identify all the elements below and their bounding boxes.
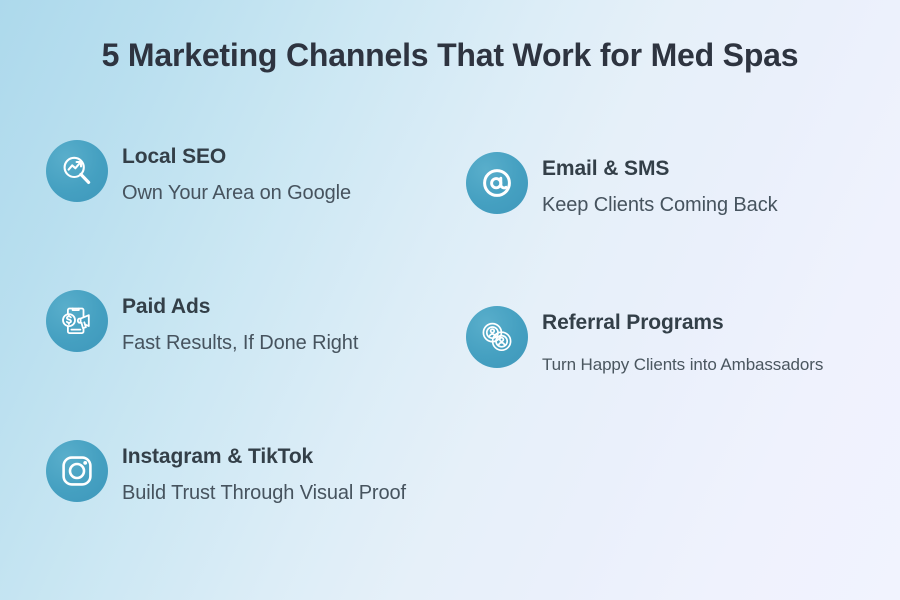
channel-item-referral-programs[interactable]: Referral Programs Turn Happy Clients int… [466, 306, 886, 377]
channel-title: Local SEO [122, 144, 351, 170]
infographic-canvas: 5 Marketing Channels That Work for Med S… [0, 0, 900, 600]
channel-text: Email & SMS Keep Clients Coming Back [542, 152, 778, 219]
channel-title: Paid Ads [122, 294, 358, 320]
channel-subtitle: Own Your Area on Google [122, 180, 351, 206]
channel-item-instagram-tiktok[interactable]: Instagram & TikTok Build Trust Through V… [46, 440, 446, 507]
channel-title: Email & SMS [542, 156, 778, 182]
channel-text: Local SEO Own Your Area on Google [122, 140, 351, 207]
channel-text: Referral Programs Turn Happy Clients int… [542, 306, 823, 377]
channel-item-paid-ads[interactable]: Paid Ads Fast Results, If Done Right [46, 290, 446, 357]
channel-subtitle: Keep Clients Coming Back [542, 192, 778, 218]
channel-item-email-sms[interactable]: Email & SMS Keep Clients Coming Back [466, 152, 886, 219]
channel-title: Referral Programs [542, 310, 823, 336]
channel-subtitle: Turn Happy Clients into Ambassadors [542, 354, 823, 377]
at-sign-icon [466, 152, 528, 214]
channel-title: Instagram & TikTok [122, 444, 406, 470]
seo-magnifier-trend-icon [46, 140, 108, 202]
channel-text: Paid Ads Fast Results, If Done Right [122, 290, 358, 357]
page-title: 5 Marketing Channels That Work for Med S… [0, 36, 900, 74]
channel-item-local-seo[interactable]: Local SEO Own Your Area on Google [46, 140, 446, 207]
channel-subtitle: Fast Results, If Done Right [122, 330, 358, 356]
paid-ads-megaphone-icon [46, 290, 108, 352]
referral-people-link-icon [466, 306, 528, 368]
channel-subtitle: Build Trust Through Visual Proof [122, 480, 406, 506]
instagram-camera-icon [46, 440, 108, 502]
channel-text: Instagram & TikTok Build Trust Through V… [122, 440, 406, 507]
